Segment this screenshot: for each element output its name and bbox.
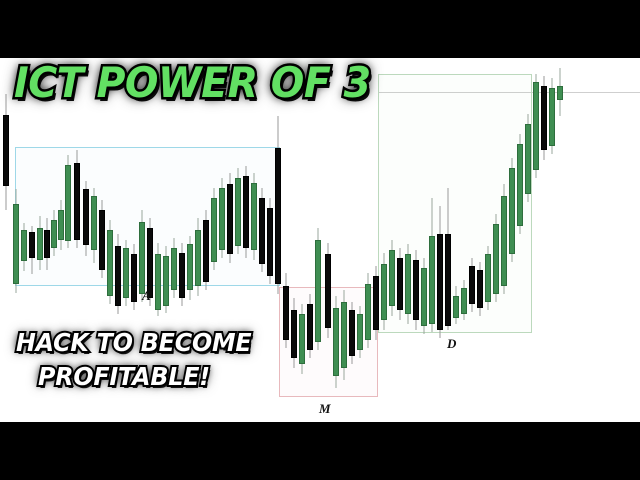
headline-subtitle: HACK TO BECOME PROFITABLE! (16, 326, 264, 393)
candle (445, 188, 451, 330)
candle-body (315, 240, 321, 342)
candle (179, 243, 185, 306)
candle (477, 262, 483, 316)
candle (29, 226, 35, 274)
candle (219, 178, 225, 258)
candle (357, 306, 363, 358)
candle (341, 290, 347, 380)
candle-body (203, 220, 209, 282)
zone-label-accumulation: A (142, 288, 151, 304)
candle-body (291, 310, 297, 358)
candle (211, 188, 217, 270)
candle-body (493, 224, 499, 294)
candle-body (445, 234, 451, 326)
zone-label-manipulation: M (319, 401, 331, 417)
candle-body (243, 176, 249, 248)
candle (533, 74, 539, 178)
candle (99, 200, 105, 278)
zone-label-distribution: D (447, 336, 456, 352)
candle-body (283, 286, 289, 340)
candle (389, 240, 395, 316)
candle-body (461, 288, 467, 314)
candle-body (437, 234, 443, 330)
candle-body (525, 124, 531, 194)
candle (243, 166, 249, 258)
candle (203, 210, 209, 290)
candle-body (373, 276, 379, 330)
candle (325, 243, 331, 338)
candle-body (267, 208, 273, 276)
candle (74, 150, 80, 248)
candle-body (509, 168, 515, 254)
candle-body (413, 260, 419, 320)
candle (163, 246, 169, 313)
candle-body (155, 254, 161, 310)
candle-body (397, 258, 403, 310)
candle-body (37, 228, 43, 260)
candle-body (477, 270, 483, 308)
candle-body (381, 264, 387, 320)
subtitle-line-2: PROFITABLE! (38, 360, 253, 394)
candle-body (307, 304, 313, 350)
candle (235, 168, 241, 254)
candle-body (219, 188, 225, 250)
candle-body (227, 184, 233, 254)
candle (91, 188, 97, 263)
candle (171, 238, 177, 298)
candle (275, 116, 281, 294)
candle-body (51, 220, 57, 248)
candle (51, 210, 57, 256)
candle-body (349, 310, 355, 356)
candle-body (453, 296, 459, 318)
candle-body (365, 284, 371, 340)
candle (187, 236, 193, 300)
candle-body (405, 254, 411, 314)
candle (299, 304, 305, 374)
candle-body (123, 248, 129, 298)
candle-body (74, 163, 80, 240)
candle (123, 240, 129, 306)
candle (405, 244, 411, 324)
candle-body (251, 183, 257, 250)
candle (549, 78, 555, 154)
candle-body (83, 189, 89, 245)
candle-body (389, 250, 395, 306)
candle-body (58, 210, 64, 240)
candle (267, 198, 273, 284)
candle-body (429, 236, 435, 324)
candle (421, 258, 427, 334)
candle (381, 253, 387, 330)
candle (493, 214, 499, 302)
candle-body (557, 86, 563, 100)
candle-body (21, 230, 27, 261)
candle-body (275, 148, 281, 284)
candle (509, 158, 515, 262)
candle-body (485, 254, 491, 302)
candle (333, 296, 339, 388)
candle-body (259, 198, 265, 264)
candle (413, 250, 419, 330)
candle (461, 280, 467, 320)
candle-body (299, 314, 305, 364)
candle (349, 302, 355, 364)
candle-body (533, 82, 539, 170)
candle (58, 200, 64, 250)
subtitle-line-1: HACK TO BECOME (16, 326, 251, 360)
candle (259, 188, 265, 272)
candle (21, 223, 27, 271)
candle (155, 243, 161, 316)
candle-body (357, 314, 363, 350)
candle-body (541, 86, 547, 150)
candle (469, 258, 475, 312)
candle (251, 173, 257, 260)
candle-body (107, 230, 113, 296)
candle-body (341, 302, 347, 368)
candle-body (65, 165, 71, 241)
thumbnail-stage: A M D ICT POWER OF 3 HACK TO BECOME PROF… (0, 0, 640, 480)
candle-body (333, 308, 339, 376)
candle (501, 184, 507, 294)
candle (3, 94, 9, 210)
candle-body (235, 178, 241, 246)
candle (429, 198, 435, 332)
candle (283, 273, 289, 348)
candle (65, 155, 71, 248)
candle (541, 76, 547, 160)
candle (437, 206, 443, 338)
candle-body (13, 204, 19, 284)
candle-body (139, 222, 145, 294)
candle-body (517, 144, 523, 226)
candle-body (91, 196, 97, 250)
candle-body (3, 115, 9, 186)
candle (227, 173, 233, 263)
candle-body (44, 230, 50, 258)
candle-body (29, 232, 35, 258)
candle (195, 218, 201, 296)
candle-body (171, 248, 177, 290)
candle (525, 114, 531, 202)
candle-body (549, 88, 555, 146)
candle (44, 218, 50, 270)
candle-body (187, 244, 193, 290)
candle (397, 248, 403, 320)
candle (517, 134, 523, 234)
candle-body (501, 196, 507, 286)
candle (365, 273, 371, 348)
candle (107, 220, 113, 304)
letterbox-top-bar (0, 0, 640, 58)
candle (37, 216, 43, 270)
candle-body (469, 266, 475, 304)
letterbox-bottom-bar (0, 422, 640, 480)
candle (315, 228, 321, 350)
candle (291, 298, 297, 368)
candle (453, 286, 459, 324)
candle-body (421, 268, 427, 326)
candle (13, 189, 19, 293)
candle-body (211, 198, 217, 262)
candle (131, 244, 137, 310)
candle (557, 68, 563, 116)
candle-body (195, 230, 201, 286)
candle-body (131, 254, 137, 302)
candle-body (115, 246, 121, 306)
candle (115, 234, 121, 314)
candle (83, 181, 89, 256)
candle-body (325, 254, 331, 328)
candle (307, 294, 313, 358)
headline-title: ICT POWER OF 3 (14, 62, 371, 104)
candle (373, 266, 379, 340)
candle-body (179, 253, 185, 298)
candle (485, 246, 491, 310)
candle-body (99, 210, 105, 270)
candle-body (163, 256, 169, 306)
